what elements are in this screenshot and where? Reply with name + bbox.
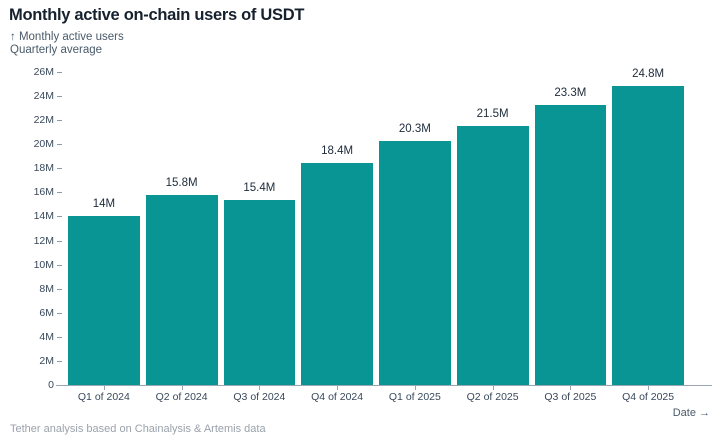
- y-axis-tick-label: 6M: [0, 307, 54, 319]
- y-axis-tick-mark: [57, 265, 62, 266]
- y-axis-tick-mark: [57, 120, 62, 121]
- y-axis-tick-mark: [57, 361, 62, 362]
- y-axis-tick-mark: [57, 144, 62, 145]
- bar[interactable]: [301, 163, 373, 385]
- y-axis-tick-label: 2M: [0, 355, 54, 367]
- chart-container: Monthly active on-chain users of USDT ↑ …: [0, 0, 719, 445]
- y-axis-tick-mark: [57, 192, 62, 193]
- x-axis-line: [56, 385, 712, 386]
- bar[interactable]: [68, 216, 140, 385]
- bar-value-label: 18.4M: [301, 145, 373, 157]
- y-axis-tick-label: 4M: [0, 331, 54, 343]
- bar[interactable]: [612, 86, 684, 385]
- bar-value-label: 15.8M: [146, 177, 218, 189]
- x-axis-tick-mark: [337, 386, 338, 390]
- x-axis-tick-mark: [415, 386, 416, 390]
- bar-value-label: 23.3M: [535, 87, 607, 99]
- y-axis-tick-mark: [57, 313, 62, 314]
- x-axis-tick-label: Q1 of 2024: [68, 391, 140, 403]
- y-axis-tick-label: 20M: [0, 138, 54, 150]
- y-axis-tick-label: 22M: [0, 114, 54, 126]
- x-axis-tick-label: Q3 of 2025: [535, 391, 607, 403]
- bar-value-label: 15.4M: [224, 182, 296, 194]
- y-axis-tick-label: 18M: [0, 162, 54, 174]
- x-axis-title: Date →: [673, 407, 710, 419]
- x-axis-tick-label: Q3 of 2024: [224, 391, 296, 403]
- y-axis-tick-label: 12M: [0, 235, 54, 247]
- x-axis-tick-mark: [104, 386, 105, 390]
- y-axis-tick-label: 10M: [0, 259, 54, 271]
- y-axis-tick-label: 24M: [0, 90, 54, 102]
- x-axis-tick-mark: [648, 386, 649, 390]
- y-axis-tick-label: 14M: [0, 210, 54, 222]
- x-axis-tick-label: Q4 of 2025: [612, 391, 684, 403]
- bar[interactable]: [224, 200, 296, 385]
- x-axis-tick-label: Q4 of 2024: [301, 391, 373, 403]
- x-axis-tick-label: Q1 of 2025: [379, 391, 451, 403]
- y-axis-tick-mark: [57, 72, 62, 73]
- y-axis-tick-mark: [57, 289, 62, 290]
- y-axis-tick-mark: [57, 96, 62, 97]
- y-axis-tick-label: 26M: [0, 66, 54, 78]
- bar-value-label: 14M: [68, 198, 140, 210]
- y-axis-tick-mark: [57, 337, 62, 338]
- y-axis-tick-mark: [57, 216, 62, 217]
- bar-value-label: 24.8M: [612, 68, 684, 80]
- bar[interactable]: [146, 195, 218, 385]
- y-axis-tick-label: 8M: [0, 283, 54, 295]
- plot-area: 02M4M6M8M10M12M14M16M18M20M22M24M26M 14M…: [0, 0, 719, 445]
- y-axis-tick-mark: [57, 168, 62, 169]
- bar[interactable]: [535, 105, 607, 385]
- x-axis-tick-mark: [182, 386, 183, 390]
- x-axis-tick-mark: [570, 386, 571, 390]
- bar-value-label: 21.5M: [457, 108, 529, 120]
- x-axis-tick-mark: [259, 386, 260, 390]
- y-axis-tick-label: 0: [0, 379, 54, 391]
- x-axis-tick-label: Q2 of 2025: [457, 391, 529, 403]
- bar-value-label: 20.3M: [379, 123, 451, 135]
- source-note: Tether analysis based on Chainalysis & A…: [10, 423, 266, 435]
- x-axis-tick-label: Q2 of 2024: [146, 391, 218, 403]
- bar[interactable]: [457, 126, 529, 385]
- bar[interactable]: [379, 141, 451, 385]
- y-axis-tick-label: 16M: [0, 186, 54, 198]
- y-axis-tick-mark: [57, 241, 62, 242]
- x-axis-tick-mark: [493, 386, 494, 390]
